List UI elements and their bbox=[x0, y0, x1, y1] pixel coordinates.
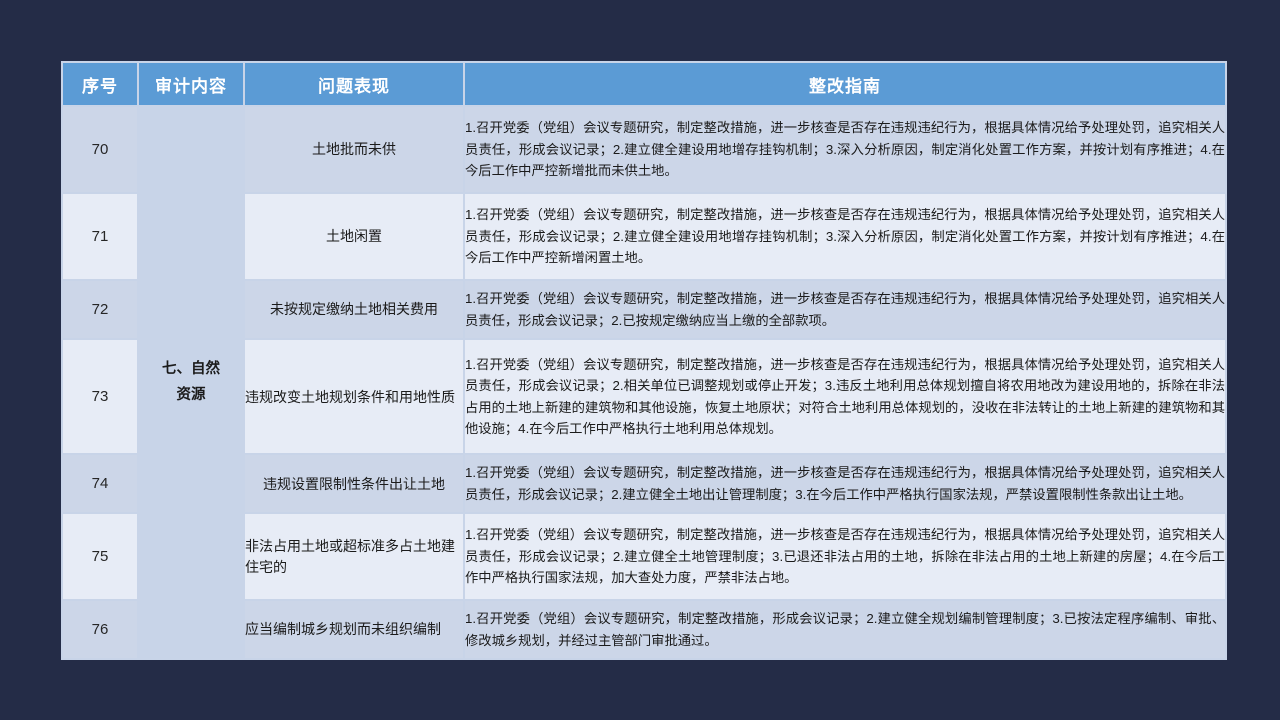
table-body: 70 七、自然 资源 土地批而未供 1.召开党委（党组）会议专题研究，制定整改措… bbox=[63, 107, 1225, 658]
category-line-2: 资源 bbox=[139, 383, 243, 408]
cell-no: 70 bbox=[63, 107, 137, 192]
cell-problem: 非法占用土地或超标准多占土地建住宅的 bbox=[245, 514, 463, 599]
category-line-1: 七、自然 bbox=[139, 357, 243, 382]
cell-guide: 1.召开党委（党组）会议专题研究，制定整改措施，进一步核查是否存在违规违纪行为，… bbox=[465, 340, 1225, 453]
cell-no: 73 bbox=[63, 340, 137, 453]
cell-guide: 1.召开党委（党组）会议专题研究，制定整改措施，进一步核查是否存在违规违纪行为，… bbox=[465, 194, 1225, 279]
cell-guide: 1.召开党委（党组）会议专题研究，制定整改措施，形成会议记录；2.建立健全规划编… bbox=[465, 601, 1225, 658]
table-row: 70 七、自然 资源 土地批而未供 1.召开党委（党组）会议专题研究，制定整改措… bbox=[63, 107, 1225, 192]
cell-category-merged: 七、自然 资源 bbox=[139, 107, 243, 658]
cell-problem: 违规设置限制性条件出让土地 bbox=[245, 455, 463, 512]
cell-problem: 土地闲置 bbox=[245, 194, 463, 279]
column-header-guide: 整改指南 bbox=[465, 63, 1225, 105]
cell-problem: 应当编制城乡规划而未组织编制 bbox=[245, 601, 463, 658]
column-header-problem: 问题表现 bbox=[245, 63, 463, 105]
cell-guide: 1.召开党委（党组）会议专题研究，制定整改措施，进一步核查是否存在违规违纪行为，… bbox=[465, 281, 1225, 338]
cell-no: 74 bbox=[63, 455, 137, 512]
column-header-category: 审计内容 bbox=[139, 63, 243, 105]
cell-no: 72 bbox=[63, 281, 137, 338]
cell-no: 76 bbox=[63, 601, 137, 658]
cell-no: 75 bbox=[63, 514, 137, 599]
cell-guide: 1.召开党委（党组）会议专题研究，制定整改措施，进一步核查是否存在违规违纪行为，… bbox=[465, 455, 1225, 512]
header-row: 序号 审计内容 问题表现 整改指南 bbox=[63, 63, 1225, 105]
cell-problem: 土地批而未供 bbox=[245, 107, 463, 192]
cell-no: 71 bbox=[63, 194, 137, 279]
cell-problem: 违规改变土地规划条件和用地性质 bbox=[245, 340, 463, 453]
audit-table-container: 序号 审计内容 问题表现 整改指南 70 七、自然 资源 土地批而未供 1.召开… bbox=[61, 61, 1219, 660]
audit-table: 序号 审计内容 问题表现 整改指南 70 七、自然 资源 土地批而未供 1.召开… bbox=[61, 61, 1227, 660]
cell-guide: 1.召开党委（党组）会议专题研究，制定整改措施，进一步核查是否存在违规违纪行为，… bbox=[465, 107, 1225, 192]
slide-canvas: 序号 审计内容 问题表现 整改指南 70 七、自然 资源 土地批而未供 1.召开… bbox=[0, 0, 1280, 720]
table-header: 序号 审计内容 问题表现 整改指南 bbox=[63, 63, 1225, 105]
column-header-no: 序号 bbox=[63, 63, 137, 105]
cell-guide: 1.召开党委（党组）会议专题研究，制定整改措施，进一步核查是否存在违规违纪行为，… bbox=[465, 514, 1225, 599]
cell-problem: 未按规定缴纳土地相关费用 bbox=[245, 281, 463, 338]
